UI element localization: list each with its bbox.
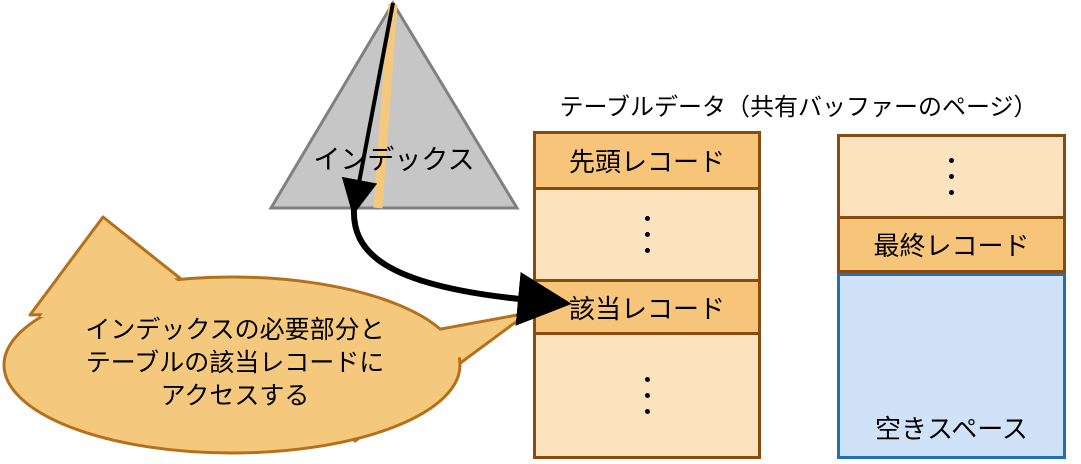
row-last-record-label: 最終レコード (873, 226, 1029, 263)
callout-line-3: アクセスする (10, 379, 460, 412)
row-matching-record-label: 該当レコード (569, 289, 725, 326)
row-matching-record: 該当レコード (536, 279, 758, 335)
row-ellipsis-upper (536, 190, 758, 279)
row-ellipsis-lower (536, 335, 758, 456)
row-first-record-label: 先頭レコード (569, 142, 725, 179)
free-space-label: 空きスペース (875, 409, 1028, 456)
vertical-dots-icon (645, 377, 650, 414)
table-data-heading: テーブルデータ（共有バッファーのページ） (516, 87, 1081, 122)
vertical-dots-icon (949, 158, 954, 195)
callout-line-2: テーブルの該当レコードに (10, 346, 460, 379)
free-space-region: 空きスペース (837, 273, 1066, 459)
table-page-left: 先頭レコード 該当レコード (533, 131, 761, 459)
vertical-dots-icon (645, 216, 650, 253)
diagram-canvas: インデックス インデックスの必要部分と テーブルの該当レコードに アクセスする (0, 0, 1081, 464)
index-triangle (268, 0, 520, 216)
table-page-right: 最終レコード 空きスペース (837, 134, 1066, 459)
row-first-record: 先頭レコード (536, 134, 758, 190)
index-label: インデックス (268, 138, 520, 177)
row-ellipsis-top (840, 137, 1063, 216)
callout-line-1: インデックスの必要部分と (10, 313, 460, 346)
callout-text: インデックスの必要部分と テーブルの該当レコードに アクセスする (10, 313, 460, 412)
row-last-record: 最終レコード (840, 216, 1063, 273)
